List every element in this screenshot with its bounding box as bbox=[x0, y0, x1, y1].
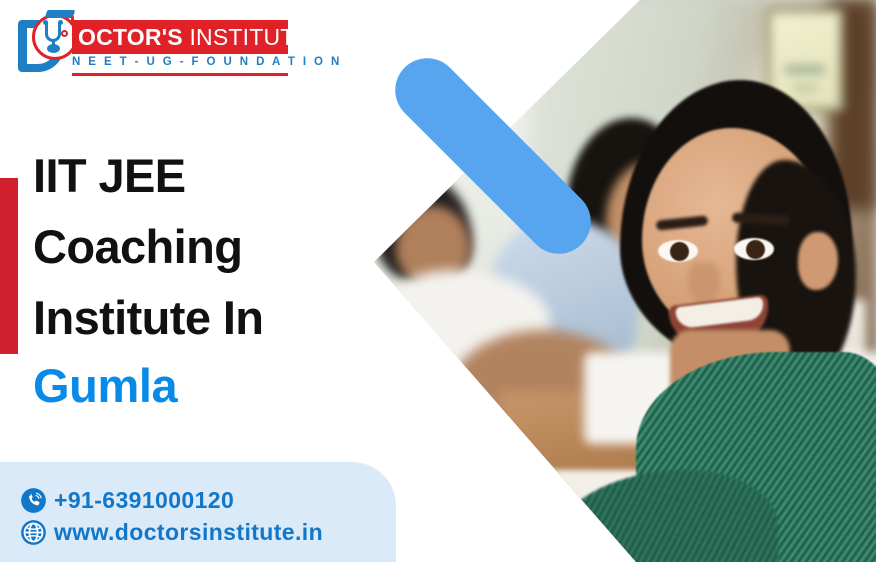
promo-banner: OCTOR'S INSTITUTE N E E T - U G - F O U … bbox=[0, 0, 876, 562]
phone-row[interactable]: +91-6391000120 bbox=[20, 484, 396, 516]
brand-logo[interactable]: OCTOR'S INSTITUTE N E E T - U G - F O U … bbox=[16, 12, 288, 82]
student-nose bbox=[688, 262, 720, 304]
headline-line-1: IIT JEE bbox=[33, 140, 363, 211]
logo-underline bbox=[72, 73, 288, 76]
globe-icon bbox=[20, 519, 47, 546]
logo-name-text: OCTOR'S INSTITUTE bbox=[72, 24, 310, 51]
stethoscope-bell bbox=[47, 44, 60, 53]
website-url: www.doctorsinstitute.in bbox=[54, 516, 323, 548]
page-title: IIT JEE Coaching Institute In Gumla bbox=[33, 140, 363, 419]
contact-card: +91-6391000120 www.doctorsinstitute.in bbox=[0, 462, 396, 562]
logo-name-bold: OCTOR'S bbox=[78, 24, 183, 50]
headline-line-3: Institute In bbox=[33, 282, 363, 353]
student-pupil bbox=[746, 240, 765, 259]
logo-name-light-text: INSTITUTE bbox=[189, 24, 310, 50]
red-accent-bar bbox=[0, 178, 18, 354]
logo-name-banner: OCTOR'S INSTITUTE bbox=[72, 20, 288, 54]
phone-number: +91-6391000120 bbox=[54, 484, 234, 516]
student-pupil bbox=[670, 242, 689, 261]
headline-city: Gumla bbox=[33, 353, 363, 419]
board-text-line bbox=[793, 85, 817, 91]
website-row[interactable]: www.doctorsinstitute.in bbox=[20, 516, 396, 548]
headline-line-2: Coaching bbox=[33, 211, 363, 282]
graduation-cap-icon bbox=[46, 8, 76, 20]
phone-icon bbox=[20, 487, 47, 514]
stethoscope-icon bbox=[43, 22, 67, 52]
logo-tagline: N E E T - U G - F O U N D A T I O N bbox=[72, 56, 288, 68]
stethoscope-accent-dot bbox=[61, 30, 68, 37]
board-text-line bbox=[785, 65, 825, 74]
